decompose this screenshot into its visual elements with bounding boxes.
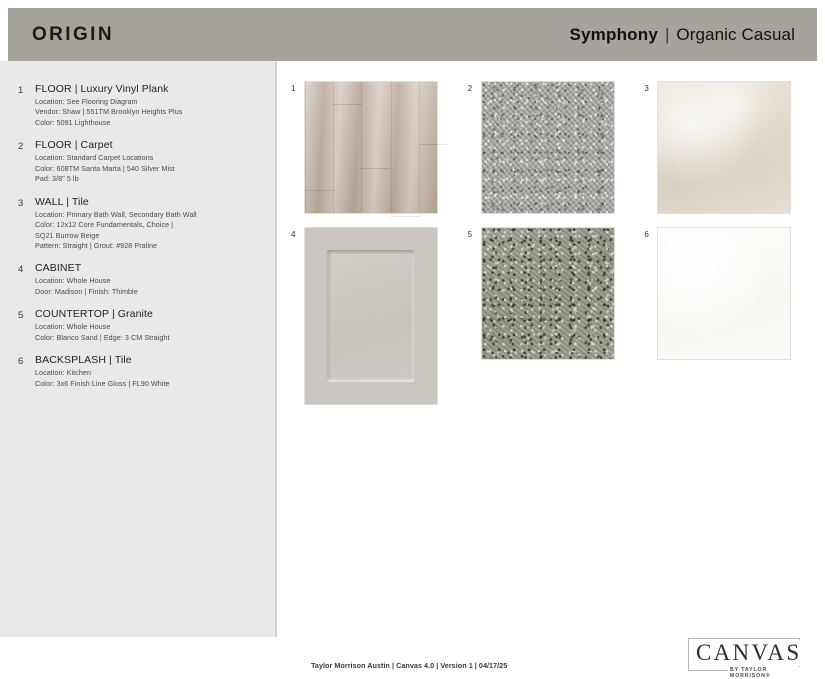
spec-detail-line: Door: Madison | Finish: Thimble [35,287,258,297]
swatch-cell: 3 [644,81,821,227]
footer-credit: Taylor Morrison Austin | Canvas 4.0 | Ve… [311,661,507,670]
spec-body: FLOOR | Luxury Vinyl Plank Location: See… [35,83,258,128]
spec-detail-line: Color: 3x6 Finish Line Gloss | FL90 Whit… [35,379,258,389]
spec-title: COUNTERTOP | Granite [35,308,258,320]
spec-title: FLOOR | Carpet [35,139,258,151]
list-item: 6 BACKSPLASH | Tile Location: Kitchen Co… [18,354,258,389]
spec-body: COUNTERTOP | Granite Location: Whole Hou… [35,308,258,343]
granite-countertop-swatch [481,227,615,360]
swatch-number: 4 [291,230,295,239]
spec-title: BACKSPLASH | Tile [35,354,258,366]
spec-detail-line: Color: 608TM Santa Marta | 540 Silver Mi… [35,164,258,174]
page-content: 1 FLOOR | Luxury Vinyl Plank Location: S… [0,61,825,637]
luxury-vinyl-plank-swatch [304,81,438,214]
spec-detail-line: Location: Standard Carpet Locations [35,153,258,163]
canvas-logo: CANVAS BY TAYLOR MORRISON® [688,636,806,676]
list-item: 4 CABINET Location: Whole House Door: Ma… [18,262,258,297]
spec-body: BACKSPLASH | Tile Location: Kitchen Colo… [35,354,258,389]
page-header: ORIGIN Symphony | Organic Casual [8,8,817,61]
spec-title: WALL | Tile [35,196,258,208]
spec-title: CABINET [35,262,258,274]
swatch-cell: 5 [468,227,645,417]
specification-panel: 1 FLOOR | Luxury Vinyl Plank Location: S… [0,61,275,637]
spec-detail-line: Location: Whole House [35,276,258,286]
swatch-cell: 1 [291,81,468,227]
collection-heading: Symphony | Organic Casual [569,25,795,45]
brand-title: ORIGIN [32,24,114,46]
spec-number: 1 [18,83,35,128]
cabinet-door-recessed-panel [327,250,415,382]
list-item: 3 WALL | Tile Location: Primary Bath Wal… [18,196,258,252]
backsplash-tile-swatch [657,227,791,360]
spec-detail-line: Pad: 3/8" 5 lb [35,174,258,184]
swatch-number: 1 [291,84,295,93]
swatch-row: 4 5 6 [291,227,821,417]
swatch-board: 1 2 3 4 [277,61,825,637]
spec-number: 5 [18,308,35,343]
spec-detail-line: Location: See Flooring Diagram [35,97,258,107]
spec-detail-line: Location: Whole House [35,322,258,332]
swatch-cell: 4 [291,227,468,417]
spec-title: FLOOR | Luxury Vinyl Plank [35,83,258,95]
cabinet-door-swatch [304,227,438,405]
swatch-cell: 6 [644,227,821,417]
spec-number: 2 [18,139,35,184]
spec-detail-line: Color: 5091 Lighthouse [35,118,258,128]
logo-tagline: BY TAYLOR MORRISON® [728,667,806,679]
spec-detail-line: Location: Kitchen [35,368,258,378]
swatch-number: 3 [644,84,648,93]
spec-detail-line: Vendor: Shaw | 551TM Brooklyn Heights Pl… [35,107,258,117]
spec-detail-line: Location: Primary Bath Wall, Secondary B… [35,210,258,220]
spec-detail-line: Color: 12x12 Core Fundamentals, Choice | [35,220,258,230]
style-name: Organic Casual [676,25,795,45]
list-item: 1 FLOOR | Luxury Vinyl Plank Location: S… [18,83,258,128]
header-separator: | [665,25,669,45]
swatch-cell: 2 [468,81,645,227]
swatch-number: 6 [644,230,648,239]
wall-tile-swatch [657,81,791,214]
spec-number: 6 [18,354,35,389]
carpet-swatch [481,81,615,214]
specification-list: 1 FLOOR | Luxury Vinyl Plank Location: S… [18,83,258,400]
spec-detail-line: SQ21 Burrow Beige [35,231,258,241]
spec-body: FLOOR | Carpet Location: Standard Carpet… [35,139,258,184]
spec-number: 4 [18,262,35,297]
spec-body: WALL | Tile Location: Primary Bath Wall,… [35,196,258,252]
spec-number: 3 [18,196,35,252]
swatch-number: 2 [468,84,472,93]
list-item: 5 COUNTERTOP | Granite Location: Whole H… [18,308,258,343]
spec-detail-line: Pattern: Straight | Grout: #928 Praline [35,241,258,251]
swatch-row: 1 2 3 [291,81,821,227]
logo-wordmark: CANVAS [693,640,804,666]
spec-body: CABINET Location: Whole House Door: Madi… [35,262,258,297]
spec-detail-line: Color: Blanco Sand | Edge: 3 CM Straight [35,333,258,343]
swatch-number: 5 [468,230,472,239]
list-item: 2 FLOOR | Carpet Location: Standard Carp… [18,139,258,184]
collection-name: Symphony [569,25,658,45]
swatch-grid: 1 2 3 4 [291,81,821,417]
